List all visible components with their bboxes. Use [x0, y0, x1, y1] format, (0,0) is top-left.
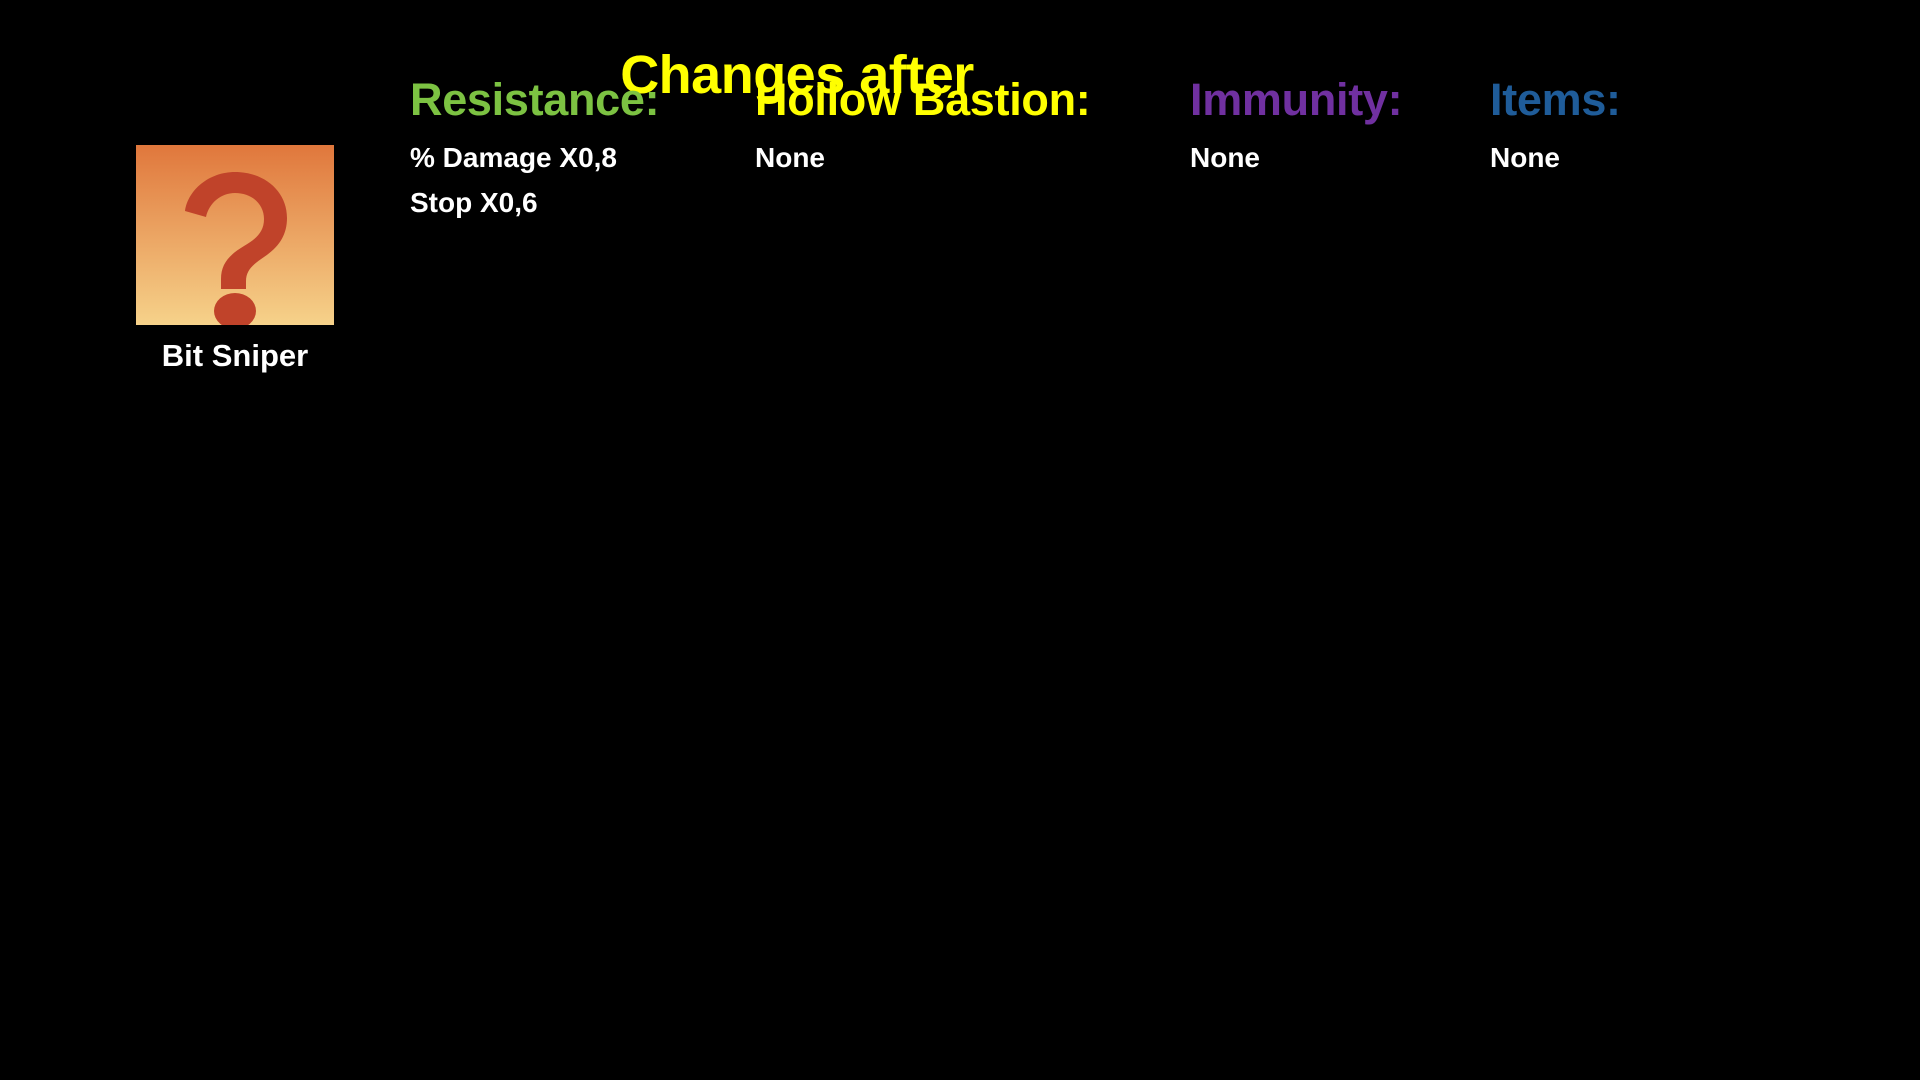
- stat-column-values: None: [755, 135, 1185, 180]
- unit-card: Bit Sniper: [136, 145, 334, 374]
- stat-value: % Damage X0,8: [410, 135, 750, 180]
- stat-value: Stop X0,6: [410, 180, 750, 225]
- stat-column-heading: Resistance:: [410, 72, 750, 127]
- stat-column-hollow-bastion: Hollow Bastion: None: [755, 72, 1185, 180]
- stat-value: None: [1190, 135, 1490, 180]
- stat-columns: Resistance: % Damage X0,8 Stop X0,6 Holl…: [410, 72, 1890, 272]
- stat-column-values: None: [1190, 135, 1490, 180]
- unit-portrait: [136, 145, 334, 325]
- stat-column-values: None: [1490, 135, 1790, 180]
- stat-value: None: [755, 135, 1185, 180]
- question-mark-icon: [136, 145, 334, 325]
- screen-root: Changes after Bit Sniper Resistance: % D…: [0, 0, 1920, 1080]
- stat-value: None: [1490, 135, 1790, 180]
- stat-column-items: Items: None: [1490, 72, 1790, 180]
- stat-column-heading: Immunity:: [1190, 72, 1490, 127]
- stat-column-heading: Items:: [1490, 72, 1790, 127]
- stat-column-immunity: Immunity: None: [1190, 72, 1490, 180]
- stat-column-values: % Damage X0,8 Stop X0,6: [410, 135, 750, 225]
- stat-column-resistance: Resistance: % Damage X0,8 Stop X0,6: [410, 72, 750, 225]
- unit-name: Bit Sniper: [136, 338, 334, 374]
- stat-column-heading: Hollow Bastion:: [755, 72, 1185, 127]
